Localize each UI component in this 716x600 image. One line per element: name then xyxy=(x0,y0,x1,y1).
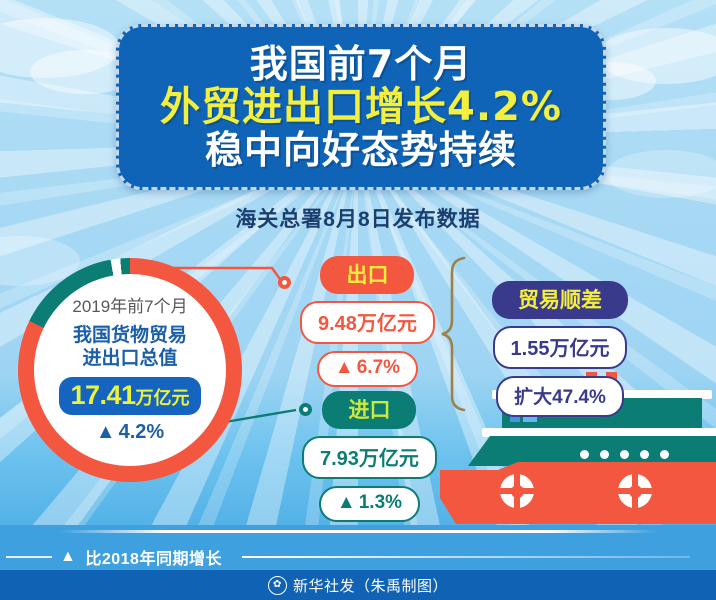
cloud-shape xyxy=(606,150,716,198)
donut-change: ▲4.2% xyxy=(96,421,164,444)
export-value: 9.48万亿元 xyxy=(300,301,435,344)
xinhua-logo-icon: ✿ xyxy=(268,576,287,595)
footnote-text: 比2018年同期增长 xyxy=(85,545,222,569)
footnote-row: ▲ 比2018年同期增长 xyxy=(0,543,716,571)
life-ring-icon xyxy=(618,474,652,508)
donut-desc-line-1: 我国货物贸易 xyxy=(73,324,187,347)
donut-total-pill: 17.41万亿元 xyxy=(59,377,200,415)
surplus-change: 扩大47.4% xyxy=(496,376,624,417)
infographic-root: 我国前7个月 外贸进出口增长4.2% 稳中向好态势持续 海关总署8月8日发布数据… xyxy=(0,0,716,600)
triangle-up-icon: ▲ xyxy=(335,357,354,379)
subtitle-source: 海关总署8月8日发布数据 xyxy=(0,203,716,233)
credit-row: ✿ 新华社发（朱禹制图） xyxy=(0,570,716,600)
donut-change-value: 4.2% xyxy=(119,421,165,443)
total-donut-chart: 2019年前7个月 我国货物贸易 进出口总值 17.41万亿元 ▲4.2% xyxy=(18,258,242,482)
export-change: ▲6.7% xyxy=(317,351,418,387)
donut-desc-line-2: 进出口总值 xyxy=(82,347,177,370)
triangle-up-icon: ▲ xyxy=(96,421,116,444)
surplus-label: 贸易顺差 xyxy=(492,281,628,319)
donut-total-value: 17.41 xyxy=(70,380,135,410)
donut-total-unit: 万亿元 xyxy=(136,388,190,408)
export-change-value: 6.7% xyxy=(357,357,400,379)
donut-content: 2019年前7个月 我国货物贸易 进出口总值 17.41万亿元 ▲4.2% xyxy=(18,258,242,482)
title-line-3: 稳中向好态势持续 xyxy=(205,130,517,170)
title-banner: 我国前7个月 外贸进出口增长4.2% 稳中向好态势持续 xyxy=(116,24,606,190)
donut-year-label: 2019年前7个月 xyxy=(72,292,187,317)
title-line-1: 我国前7个月 xyxy=(250,44,472,84)
import-value: 7.93万亿元 xyxy=(302,436,437,479)
import-label: 进口 xyxy=(322,391,416,429)
footnote-rule-right xyxy=(242,556,690,558)
footnote-rule-left xyxy=(6,556,52,558)
triangle-up-icon: ▲ xyxy=(337,492,356,514)
credit-text: 新华社发（朱禹制图） xyxy=(293,575,448,596)
surplus-group: 贸易顺差 1.55万亿元 扩大47.4% xyxy=(492,281,628,417)
life-ring-icon xyxy=(500,474,534,508)
import-group: 进口 7.93万亿元 ▲1.3% xyxy=(302,391,437,522)
ship-hull xyxy=(440,462,716,524)
export-group: 出口 9.48万亿元 ▲6.7% xyxy=(300,256,435,387)
triangle-up-icon: ▲ xyxy=(60,548,76,566)
import-change: ▲1.3% xyxy=(319,486,420,522)
export-label: 出口 xyxy=(320,256,414,294)
import-change-value: 1.3% xyxy=(359,492,402,514)
connector-dot-export xyxy=(278,276,291,289)
title-line-2: 外贸进出口增长4.2% xyxy=(160,86,562,128)
water-highlight-line xyxy=(60,530,656,533)
surplus-value: 1.55万亿元 xyxy=(493,326,628,369)
